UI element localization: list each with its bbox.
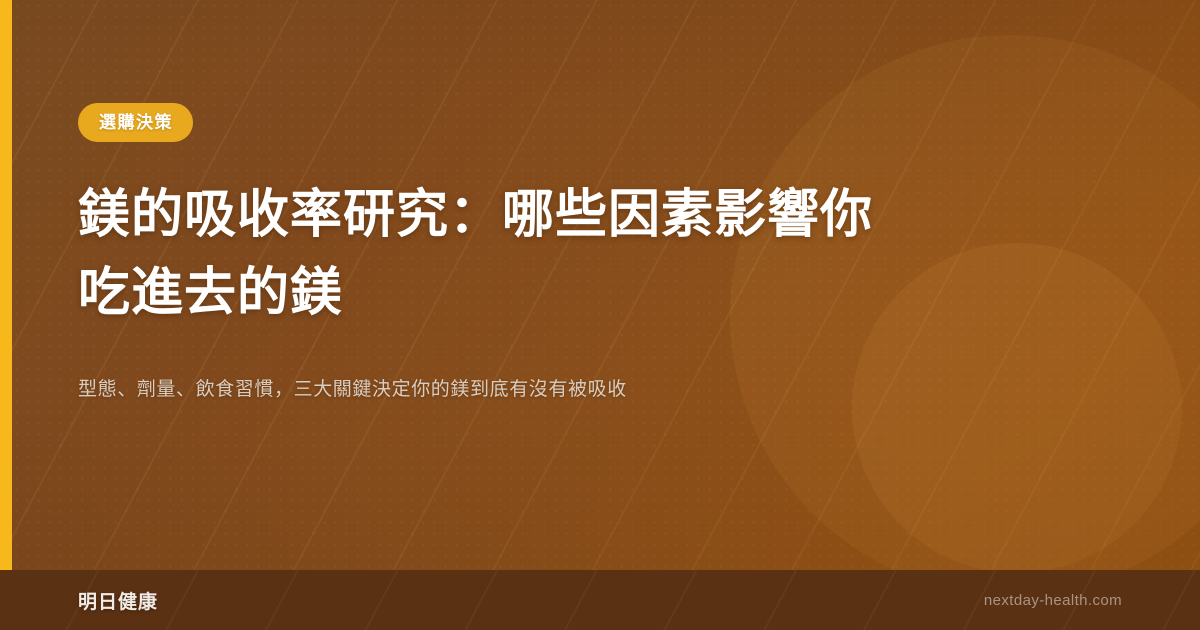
page-title: 鎂的吸收率研究：哪些因素影響你吃進去的鎂 xyxy=(78,176,908,332)
og-share-card: 選購決策 鎂的吸收率研究：哪些因素影響你吃進去的鎂 型態、劑量、飲食習慣，三大關… xyxy=(0,0,1200,630)
page-subtitle: 型態、劑量、飲食習慣，三大關鍵決定你的鎂到底有沒有被吸收 xyxy=(78,375,908,405)
footer-brand-name: 明日健康 xyxy=(78,587,158,614)
category-badge: 選購決策 xyxy=(78,103,193,142)
left-accent-bar xyxy=(0,0,12,630)
footer-domain: nextday-health.com xyxy=(984,592,1122,609)
card-content: 選購決策 鎂的吸收率研究：哪些因素影響你吃進去的鎂 型態、劑量、飲食習慣，三大關… xyxy=(78,103,978,405)
card-footer: 明日健康 nextday-health.com xyxy=(0,570,1200,630)
